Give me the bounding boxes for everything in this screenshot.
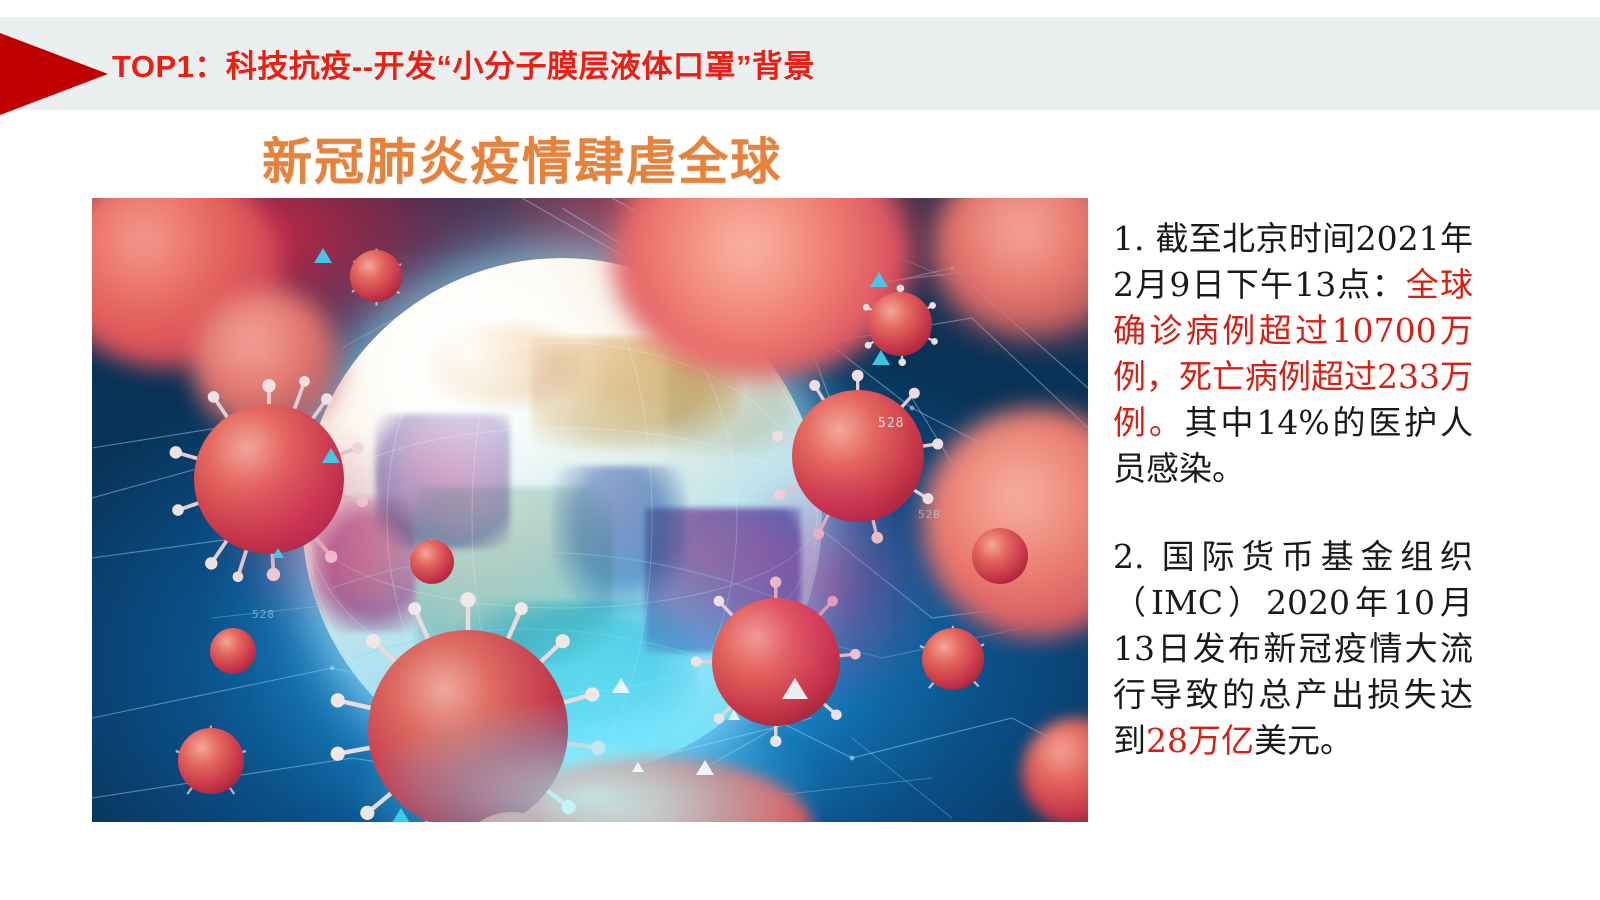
triangle-marker-icon [272, 548, 284, 558]
triangle-marker-icon [870, 272, 888, 287]
triangle-marker-icon [696, 760, 714, 775]
image-marker-label: 528 [252, 608, 275, 621]
image-marker-label: 528 [878, 416, 904, 431]
triangle-marker-icon [728, 710, 740, 720]
triangle-marker-icon [392, 808, 410, 822]
body-text-column: 1. 截至北京时间2021年2月9日下午13点：全球确诊病例超过10700万例，… [1113, 216, 1473, 764]
triangle-marker-icon [782, 678, 808, 699]
paragraph-2-run-3: 美元。 [1254, 721, 1353, 760]
paragraph-2-run-2-highlight: 28万亿 [1146, 721, 1254, 760]
covid-globe-image: 528 528 52B [92, 198, 1088, 822]
triangle-marker-icon [872, 350, 890, 365]
slide-canvas: TOP1：科技抗疫--开发“小分子膜层液体口罩”背景 新冠肺炎疫情肆虐全球 [0, 0, 1600, 900]
image-marker-label: 52B [918, 508, 941, 521]
triangle-marker-icon [322, 448, 340, 463]
triangle-marker-icon [612, 678, 630, 693]
triangle-marker-icon [314, 248, 332, 263]
paragraph-2: 2. 国际货币基金组织（IMC）2020年10月13日发布新冠疫情大流行导致的总… [1113, 534, 1473, 764]
triangle-marker-icon [632, 762, 644, 772]
paragraph-1: 1. 截至北京时间2021年2月9日下午13点：全球确诊病例超过10700万例，… [1113, 216, 1473, 492]
header-title: TOP1：科技抗疫--开发“小分子膜层液体口罩”背景 [112, 48, 815, 85]
page-title: 新冠肺炎疫情肆虐全球 [262, 122, 782, 194]
